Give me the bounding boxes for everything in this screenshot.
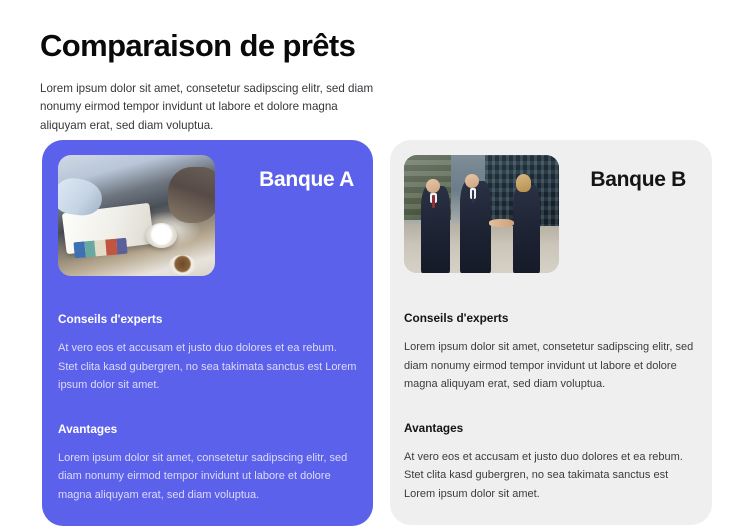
card-a-header: Banque A — [58, 155, 357, 276]
head-left — [426, 179, 440, 193]
card-a-section-advice: Conseils d'experts At vero eos et accusa… — [58, 312, 357, 395]
card-a-section-benefits-heading: Avantages — [58, 422, 357, 436]
card-a-section-benefits-body: Lorem ipsum dolor sit amet, consetetur s… — [58, 449, 357, 504]
card-a-section-advice-body: At vero eos et accusam et justo duo dolo… — [58, 339, 357, 394]
page-header: Comparaison de prêts Lorem ipsum dolor s… — [40, 28, 440, 136]
person-right — [513, 185, 541, 274]
card-banque-a[interactable]: Banque A Conseils d'experts At vero eos … — [42, 140, 373, 526]
comparison-page: Comparaison de prêts Lorem ipsum dolor s… — [0, 0, 750, 529]
swatch-violet — [116, 237, 128, 254]
intro-paragraph: Lorem ipsum dolor sit amet, consetetur s… — [40, 80, 386, 136]
card-b-section-advice-body: Lorem ipsum dolor sit amet, consetetur s… — [404, 338, 698, 393]
photo-figure-left — [58, 176, 104, 218]
card-b-header: Banque B — [404, 155, 698, 273]
handshake-hands — [489, 219, 514, 227]
card-b-section-advice: Conseils d'experts Lorem ipsum dolor sit… — [404, 311, 698, 394]
card-b-section-benefits-heading: Avantages — [404, 421, 698, 435]
business-handshake-artwork — [404, 155, 559, 273]
card-banque-b[interactable]: Banque B Conseils d'experts Lorem ipsum … — [390, 140, 712, 525]
photo-figure-right — [168, 167, 215, 223]
hair-right — [516, 174, 532, 192]
comparison-cards: Banque A Conseils d'experts At vero eos … — [42, 140, 712, 526]
coffee-cup-secondary — [169, 255, 196, 274]
card-a-section-benefits: Avantages Lorem ipsum dolor sit amet, co… — [58, 422, 357, 505]
card-b-section-benefits-body: At vero eos et accusam et justo duo dolo… — [404, 448, 698, 503]
card-b-title: Banque B — [590, 155, 698, 190]
team-meeting-photo — [58, 155, 215, 276]
page-title: Comparaison de prêts — [40, 28, 440, 64]
card-b-section-advice-heading: Conseils d'experts — [404, 311, 698, 325]
card-a-title: Banque A — [259, 155, 357, 190]
business-handshake-photo — [404, 155, 559, 273]
team-meeting-artwork — [58, 155, 215, 276]
card-b-section-benefits: Avantages At vero eos et accusam et just… — [404, 421, 698, 504]
tie-middle — [472, 190, 474, 203]
tie-left — [432, 195, 434, 208]
card-a-section-advice-heading: Conseils d'experts — [58, 312, 357, 326]
color-swatches — [73, 237, 128, 257]
